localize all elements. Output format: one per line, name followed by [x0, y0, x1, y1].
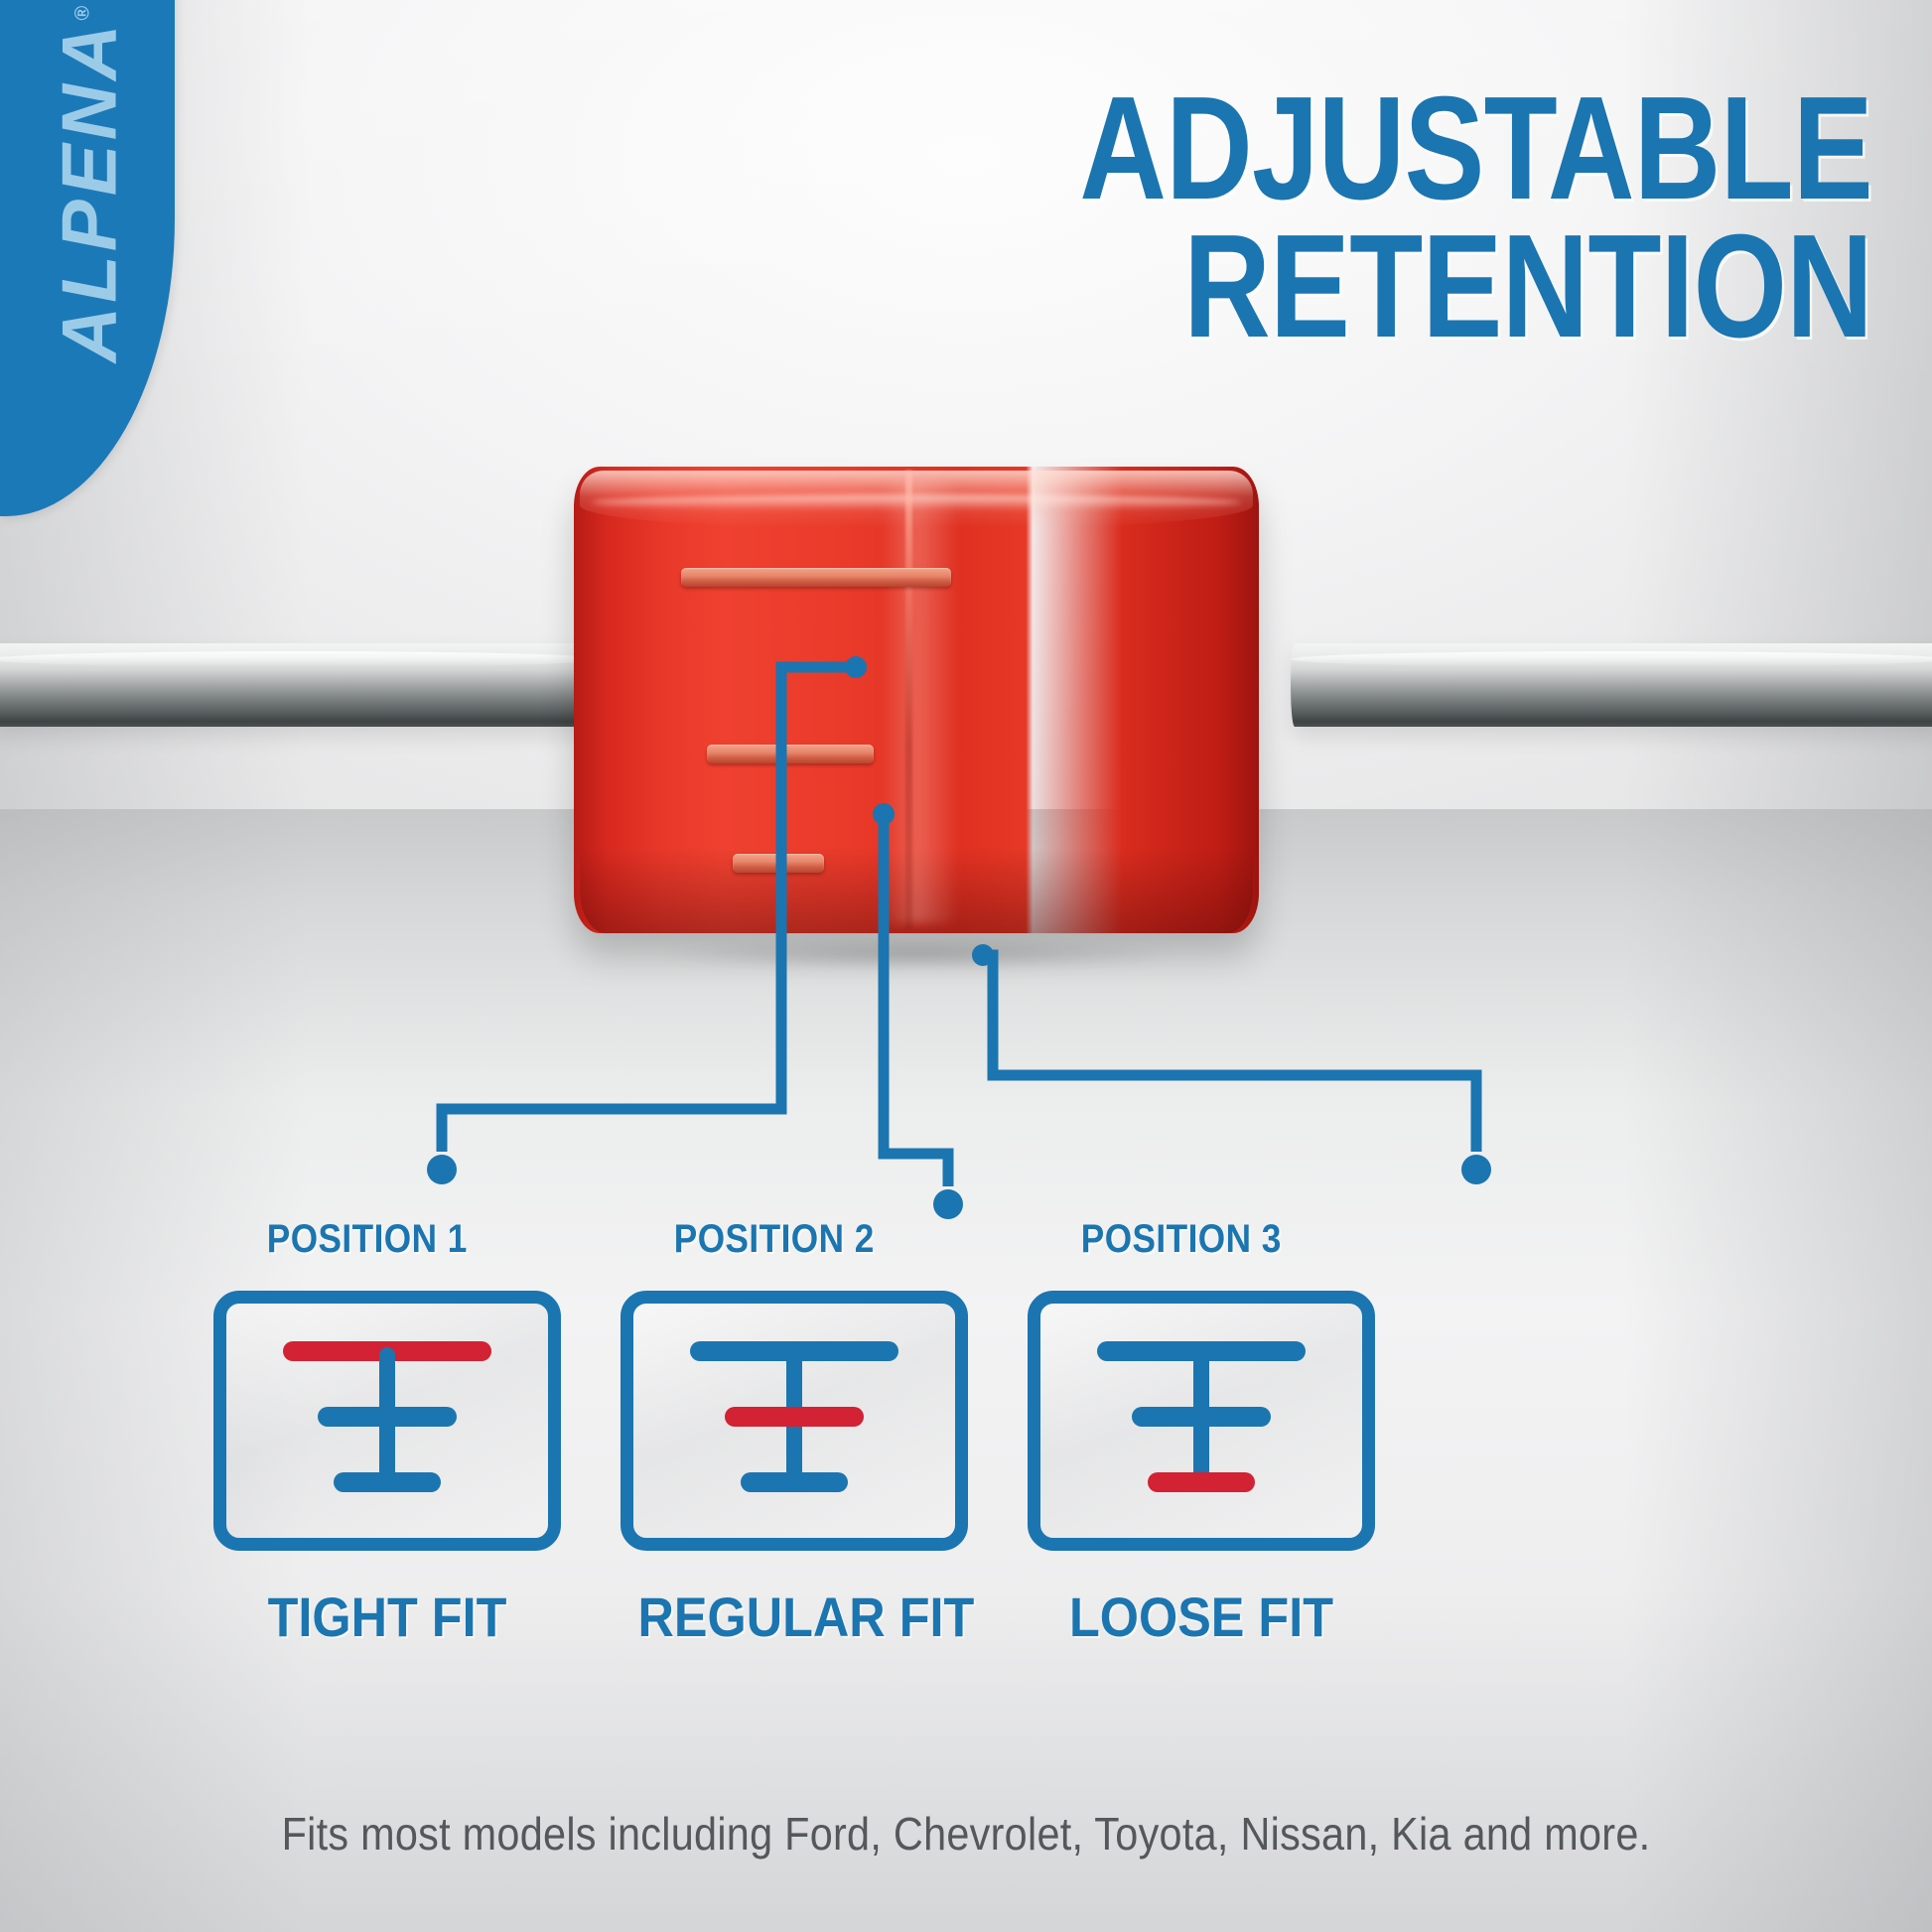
red-retention-clip — [574, 467, 1259, 933]
clip-seam — [905, 471, 912, 929]
fit-card-regular[interactable]: REGULAR FIT — [621, 1291, 968, 1649]
fit-bar-middle-3 — [1132, 1407, 1271, 1427]
clip-slot-position-2 — [707, 745, 874, 763]
registered-trademark-icon: ® — [72, 6, 94, 21]
fit-caption-2: REGULAR FIT — [638, 1585, 951, 1649]
clip-slot-position-1 — [681, 568, 951, 587]
fit-card-loose[interactable]: LOOSE FIT — [1028, 1291, 1375, 1649]
rod-highlight — [1291, 651, 1932, 667]
clip-slot-position-3 — [733, 854, 824, 873]
fit-bar-middle-1 — [318, 1407, 457, 1427]
fit-diagram-icon-1 — [213, 1291, 561, 1551]
product-shadow — [556, 931, 1281, 977]
page-title: ADJUSTABLE RETENTION — [483, 79, 1872, 355]
fit-diagram-icon-3 — [1028, 1291, 1375, 1551]
clip-gloss — [882, 479, 959, 923]
fit-bar-middle-2 — [725, 1407, 864, 1427]
fit-bar-bottom-3 — [1148, 1472, 1255, 1492]
position-label-3: POSITION 3 — [1081, 1217, 1282, 1262]
position-label-2: POSITION 2 — [674, 1217, 875, 1262]
rod-highlight — [0, 651, 606, 667]
metal-rod-left — [0, 643, 606, 727]
title-line-1: ADJUSTABLE — [733, 79, 1872, 217]
title-line-2: RETENTION — [733, 217, 1872, 355]
footer-compatibility-note: Fits most models including Ford, Chevrol… — [96, 1807, 1835, 1861]
fit-diagram-icon-2 — [621, 1291, 968, 1551]
fit-bar-bottom-2 — [741, 1472, 848, 1492]
fit-caption-3: LOOSE FIT — [1045, 1585, 1358, 1649]
fit-card-tight[interactable]: TIGHT FIT — [213, 1291, 561, 1649]
position-label-1: POSITION 1 — [267, 1217, 468, 1262]
product-photo — [0, 556, 1932, 1072]
brand-logo-text: ALPENA — [46, 21, 133, 363]
brand-logo: ALPENA® — [45, 0, 135, 393]
fit-bar-bottom-1 — [334, 1472, 441, 1492]
metal-rod-right — [1291, 643, 1932, 727]
fit-caption-1: TIGHT FIT — [231, 1585, 544, 1649]
